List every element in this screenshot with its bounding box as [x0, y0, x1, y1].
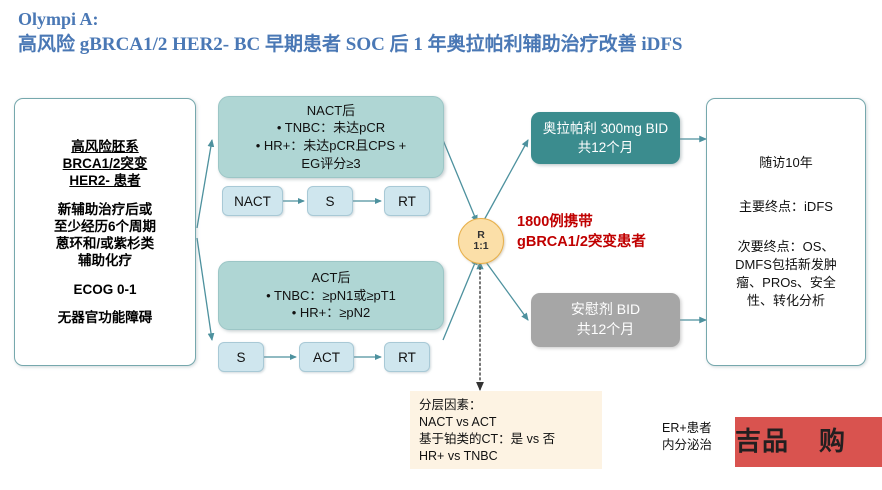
act-criteria-bullet-2: • HR+：≥pN2 [292, 304, 371, 322]
arm-line-2: 共12个月 [578, 138, 634, 157]
stratification-factor-1: NACT vs ACT [419, 414, 594, 431]
step-label: RT [398, 194, 416, 209]
stratification-header: 分层因素： [419, 397, 594, 414]
slide-canvas: Olympi A: 高风险 gBRCA1/2 HER2- BC 早期患者 SOC… [0, 0, 882, 490]
act-criteria-bullet-1: • TNBC：≥pN1或≥pT1 [266, 287, 396, 305]
er-note-line-1: ER+患者 [662, 420, 712, 437]
arm-line-1: 奥拉帕利 300mg BID [543, 119, 668, 138]
nact-pathway-step-rt: RT [384, 186, 430, 216]
nact-criteria-header: NACT后 [307, 102, 355, 120]
nact-criteria-bullet-1: • TNBC：未达pCR [277, 119, 385, 137]
eligibility-criteria-1: 新辅助治疗后或 [58, 201, 153, 218]
outcome-secondary-line-3: 瘤、PROs、安全 [736, 274, 836, 292]
arm-line-2: 共12个月 [577, 320, 635, 340]
step-label: RT [398, 350, 416, 365]
er-note-line-2: 内分泌治 [662, 437, 712, 454]
treatment-arm-olaparib: 奥拉帕利 300mg BID 共12个月 [531, 112, 680, 164]
eligibility-panel: 高风险胚系 BRCA1/2突变 HER2- 患者 新辅助治疗后或 至少经历6个周… [14, 98, 196, 366]
title-line-2: 高风险 gBRCA1/2 HER2- BC 早期患者 SOC 后 1 年奥拉帕利… [18, 32, 878, 57]
step-label: S [236, 350, 245, 365]
nact-criteria-bullet-3: EG评分≥3 [301, 155, 360, 173]
outcome-followup: 随访10年 [759, 154, 812, 172]
eligibility-criteria-5: ECOG 0-1 [73, 281, 136, 298]
eligibility-criteria-3: 蒽环和/或紫杉类 [56, 235, 154, 252]
stratification-box: 分层因素： NACT vs ACT 基于铂类的CT：是 vs 否 HR+ vs … [410, 391, 602, 469]
eligibility-criteria-2: 至少经历6个周期 [54, 218, 156, 235]
eligibility-heading-2: BRCA1/2突变 [63, 155, 148, 172]
step-label: ACT [313, 350, 340, 365]
watermark-overlay: 吉品 购 [735, 417, 882, 467]
population-line-2: gBRCA1/2突变患者 [517, 232, 646, 252]
stratification-factor-3: HR+ vs TNBC [419, 448, 594, 465]
stratification-factor-2: 基于铂类的CT：是 vs 否 [419, 431, 594, 448]
outcome-secondary-line-1: 次要终点：OS、 [738, 238, 835, 256]
population-callout: 1800例携带 gBRCA1/2突变患者 [517, 212, 646, 252]
arm-line-1: 安慰剂 BID [571, 300, 640, 320]
outcome-secondary-line-4: 性、转化分析 [747, 292, 825, 310]
eligibility-heading-3: HER2- 患者 [69, 172, 140, 189]
step-label: S [325, 194, 334, 209]
er-positive-note: ER+患者 内分泌治 [662, 420, 712, 454]
nact-pathway-step-s: S [307, 186, 353, 216]
randomization-node: R 1:1 [458, 218, 504, 264]
watermark-text-right: 购 [819, 429, 846, 455]
act-pathway-step-act: ACT [299, 342, 354, 372]
outcome-secondary-line-2: DMFS包括新发肿 [735, 256, 837, 274]
act-pathway-step-rt: RT [384, 342, 430, 372]
nact-pathway-step-nact: NACT [222, 186, 283, 216]
nact-criteria-bullet-2: • HR+：未达pCR且CPS + [256, 137, 406, 155]
title-line-1: Olympi A: [18, 8, 878, 32]
treatment-arm-placebo: 安慰剂 BID 共12个月 [531, 293, 680, 347]
step-label: NACT [234, 194, 271, 209]
eligibility-heading-1: 高风险胚系 [71, 138, 139, 155]
watermark-text-left: 吉品 [735, 429, 789, 455]
page-title: Olympi A: 高风险 gBRCA1/2 HER2- BC 早期患者 SOC… [18, 8, 878, 57]
population-line-1: 1800例携带 [517, 212, 646, 232]
act-criteria-box: ACT后 • TNBC：≥pN1或≥pT1 • HR+：≥pN2 [218, 261, 444, 330]
eligibility-criteria-4: 辅助化疗 [78, 252, 132, 269]
act-pathway-step-s: S [218, 342, 264, 372]
act-criteria-header: ACT后 [311, 269, 350, 287]
eligibility-criteria-6: 无器官功能障碍 [58, 309, 153, 326]
outcome-primary-endpoint: 主要终点：iDFS [739, 198, 833, 216]
randomization-ratio: 1:1 [473, 241, 488, 252]
nact-criteria-box: NACT后 • TNBC：未达pCR • HR+：未达pCR且CPS + EG评… [218, 96, 444, 178]
outcomes-panel: 随访10年 主要终点：iDFS 次要终点：OS、 DMFS包括新发肿 瘤、PRO… [706, 98, 866, 366]
